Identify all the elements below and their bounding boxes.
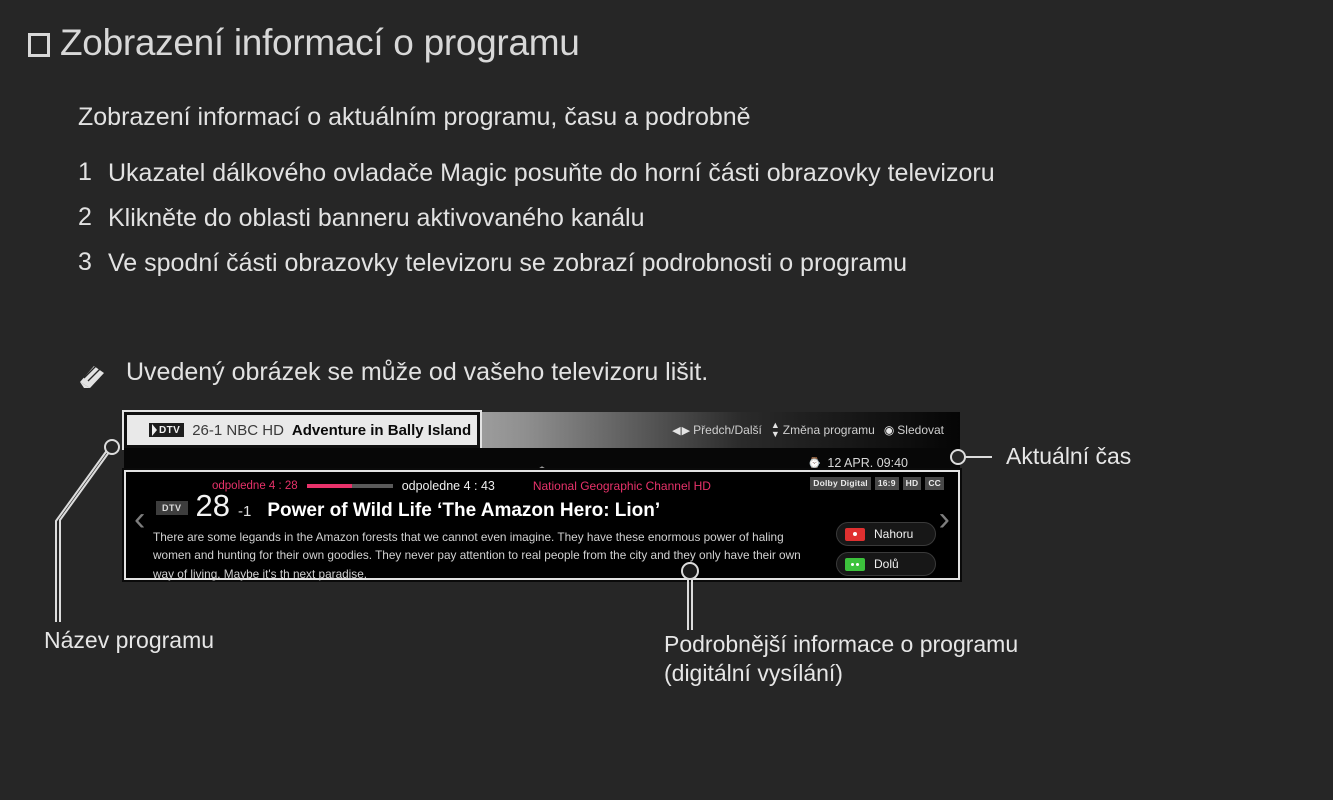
callout-current-time: Aktuální čas	[1006, 442, 1131, 471]
hint-change-program[interactable]: ▲▼ Změna programu	[771, 421, 875, 439]
intro-text: Zobrazení informací o aktuálním programu…	[78, 103, 751, 132]
step-number: 2	[78, 203, 108, 235]
page-root: Zobrazení informací o programu Zobrazení…	[0, 0, 1333, 800]
hint-label: Změna programu	[783, 423, 875, 437]
callout-more-info: Podrobnější informace o programu (digitá…	[664, 630, 1018, 689]
list-item: 1 Ukazatel dálkového ovladače Magic posu…	[78, 158, 1278, 190]
scroll-up-label: Nahoru	[874, 527, 913, 541]
dtv-badge: DTV	[156, 501, 188, 515]
note-text: Uvedený obrázek se může od vašeho televi…	[126, 358, 708, 387]
status-badge: 16:9	[875, 477, 899, 490]
list-item: 3 Ve spodní části obrazovky televizoru s…	[78, 248, 1278, 280]
banner-channel: 26-1 NBC HD	[192, 422, 284, 439]
scroll-down-label: Dolů	[874, 557, 899, 571]
wheel-icon: ◉	[884, 423, 893, 437]
red-key-icon	[845, 528, 865, 541]
green-key-icon	[845, 558, 865, 571]
pencil-icon	[78, 362, 108, 390]
channel-number: 28	[196, 490, 230, 521]
scroll-up-button[interactable]: Nahoru	[836, 522, 936, 546]
program-description: There are some legands in the Amazon for…	[153, 528, 823, 583]
list-item: 2 Klikněte do oblasti banneru aktivované…	[78, 203, 1278, 235]
dtv-badge-icon: DTV	[149, 423, 184, 437]
tv-screenshot-mock: DTV 26-1 NBC HD Adventure in Bally Islan…	[124, 412, 960, 580]
step-number: 1	[78, 158, 108, 190]
page-title: Zobrazení informací o programu	[28, 22, 580, 64]
hint-label: Sledovat	[897, 423, 944, 437]
program-progress-fill	[307, 484, 353, 488]
step-text: Ve spodní části obrazovky televizoru se …	[108, 248, 907, 280]
steps-list: 1 Ukazatel dálkového ovladače Magic posu…	[78, 158, 1278, 292]
detail-title-row: DTV 28 -1 Power of Wild Life ‘The Amazon…	[156, 490, 660, 521]
page-title-text: Zobrazení informací o programu	[60, 22, 580, 64]
format-badges: Dolby Digital 16:9 HD CC	[810, 477, 944, 490]
callout-more-info-line1: Podrobnější informace o programu	[664, 630, 1018, 659]
status-badge: Dolby Digital	[810, 477, 871, 490]
channel-banner-highlight[interactable]: DTV 26-1 NBC HD Adventure in Bally Islan…	[124, 412, 480, 448]
step-text: Klikněte do oblasti banneru aktivovaného…	[108, 203, 645, 235]
hint-prev-next[interactable]: ◀ ▶ Předch/Další	[672, 423, 762, 437]
chevron-right-icon[interactable]: ›	[939, 502, 950, 536]
scroll-down-button[interactable]: Dolů	[836, 552, 936, 576]
left-right-arrow-icon: ◀ ▶	[672, 424, 689, 437]
clock-icon: ⌚	[808, 457, 821, 470]
current-time: ⌚ 12 APR. 09:40	[808, 456, 908, 470]
banner-program-title: Adventure in Bally Island	[292, 422, 471, 439]
note-block: Uvedený obrázek se může od vašeho televi…	[78, 358, 708, 387]
chevron-left-icon[interactable]: ‹	[134, 502, 145, 536]
step-number: 3	[78, 248, 108, 280]
square-icon	[28, 33, 50, 57]
program-title: Power of Wild Life ‘The Amazon Hero: Lio…	[267, 501, 660, 520]
channel-subnumber: -1	[238, 504, 251, 519]
detail-buttons: Nahoru Dolů	[836, 522, 936, 576]
status-badge: HD	[903, 477, 922, 490]
hint-watch[interactable]: ◉ Sledovat	[884, 423, 944, 437]
callout-program-name: Název programu	[44, 626, 214, 655]
step-text: Ukazatel dálkového ovladače Magic posuňt…	[108, 158, 995, 190]
banner-hints: ◀ ▶ Předch/Další ▲▼ Změna programu ◉ Sle…	[672, 412, 944, 448]
clock-text: 12 APR. 09:40	[827, 456, 908, 470]
channel-banner: DTV 26-1 NBC HD Adventure in Bally Islan…	[124, 412, 960, 448]
callout-more-info-line2: (digitální vysílání)	[664, 659, 1018, 688]
hint-label: Předch/Další	[693, 423, 762, 437]
up-down-arrow-icon: ▲▼	[771, 421, 779, 439]
program-progress-bar	[307, 484, 393, 488]
program-detail-panel: ‹ › odpoledne 4 : 28 odpoledne 4 : 43 Na…	[124, 470, 960, 580]
closed-caption-icon: CC	[925, 477, 944, 490]
